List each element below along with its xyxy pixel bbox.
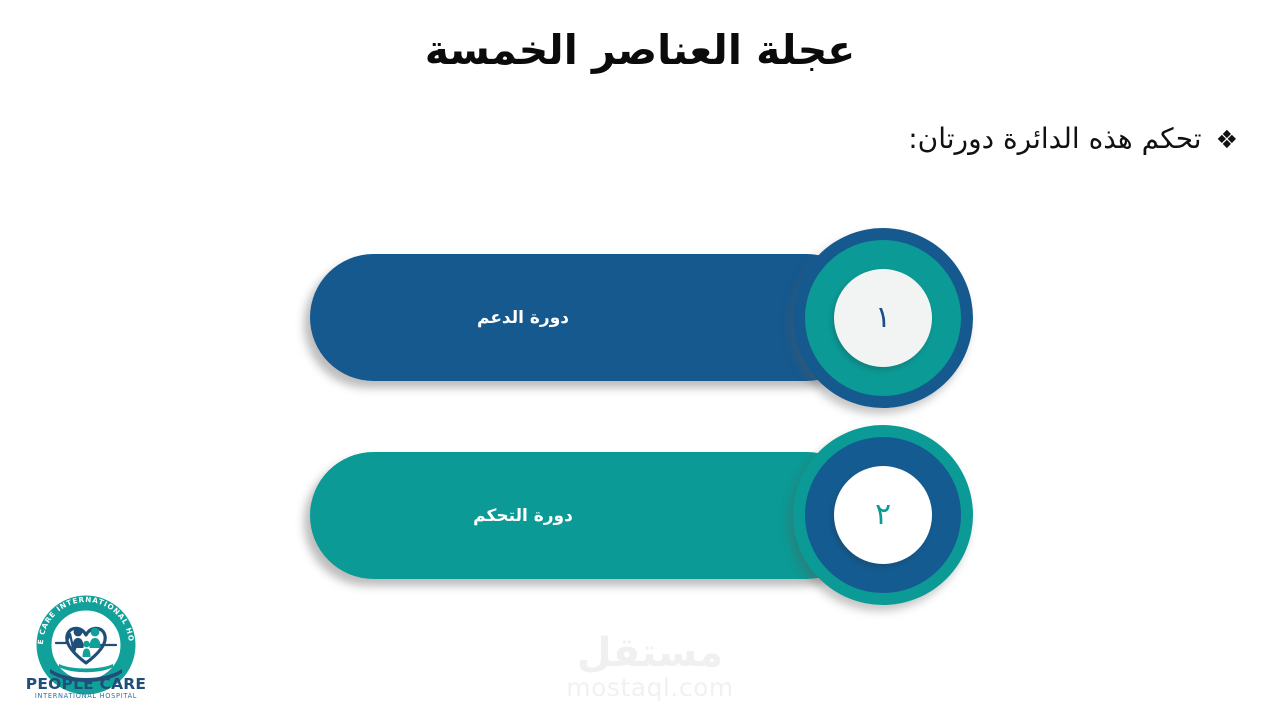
- cycle-badge-2-ring: ٢: [805, 437, 961, 593]
- watermark-domain: mostaql.com: [540, 674, 760, 702]
- cycle-badge-1-ring: ١: [805, 240, 961, 396]
- cycle-bar-2[interactable]: دورة التحكم: [310, 452, 870, 579]
- logo-subtitle: INTERNATIONAL HOSPITAL: [35, 692, 137, 700]
- cycle-row-1: دورة الدعم ١: [0, 218, 1280, 418]
- cycle-bar-2-label: دورة التحكم: [473, 506, 573, 526]
- cycle-badge-1-number: ١: [875, 303, 891, 333]
- mostaql-watermark: مستقل mostaql.com: [540, 632, 760, 702]
- cycle-badge-1-core: ١: [834, 269, 932, 367]
- cycle-badge-1[interactable]: ١: [793, 228, 973, 408]
- logo-name: PEOPLE CARE: [26, 675, 146, 693]
- watermark-arabic: مستقل: [540, 632, 760, 674]
- page-title: عجلة العناصر الخمسة: [0, 26, 1280, 74]
- bullet-line: ❖ تحكم هذه الدائرة دورتان:: [908, 122, 1238, 155]
- bullet-text: تحكم هذه الدائرة دورتان:: [908, 122, 1201, 155]
- cycle-badge-2-number: ٢: [875, 500, 891, 530]
- hospital-logo-icon: PEOPLE CARE INTERNATIONAL HOSPITAL PEOPL…: [26, 585, 176, 700]
- slide-canvas: عجلة العناصر الخمسة ❖ تحكم هذه الدائرة د…: [0, 0, 1280, 720]
- cycle-row-2: دورة التحكم ٢: [0, 415, 1280, 615]
- cycle-bar-1-label: دورة الدعم: [477, 308, 569, 328]
- cycle-bar-1[interactable]: دورة الدعم: [310, 254, 870, 381]
- diamond-bullet-icon: ❖: [1216, 127, 1238, 152]
- cycle-badge-2[interactable]: ٢: [793, 425, 973, 605]
- cycle-badge-2-core: ٢: [834, 466, 932, 564]
- hospital-logo: PEOPLE CARE INTERNATIONAL HOSPITAL PEOPL…: [26, 585, 176, 700]
